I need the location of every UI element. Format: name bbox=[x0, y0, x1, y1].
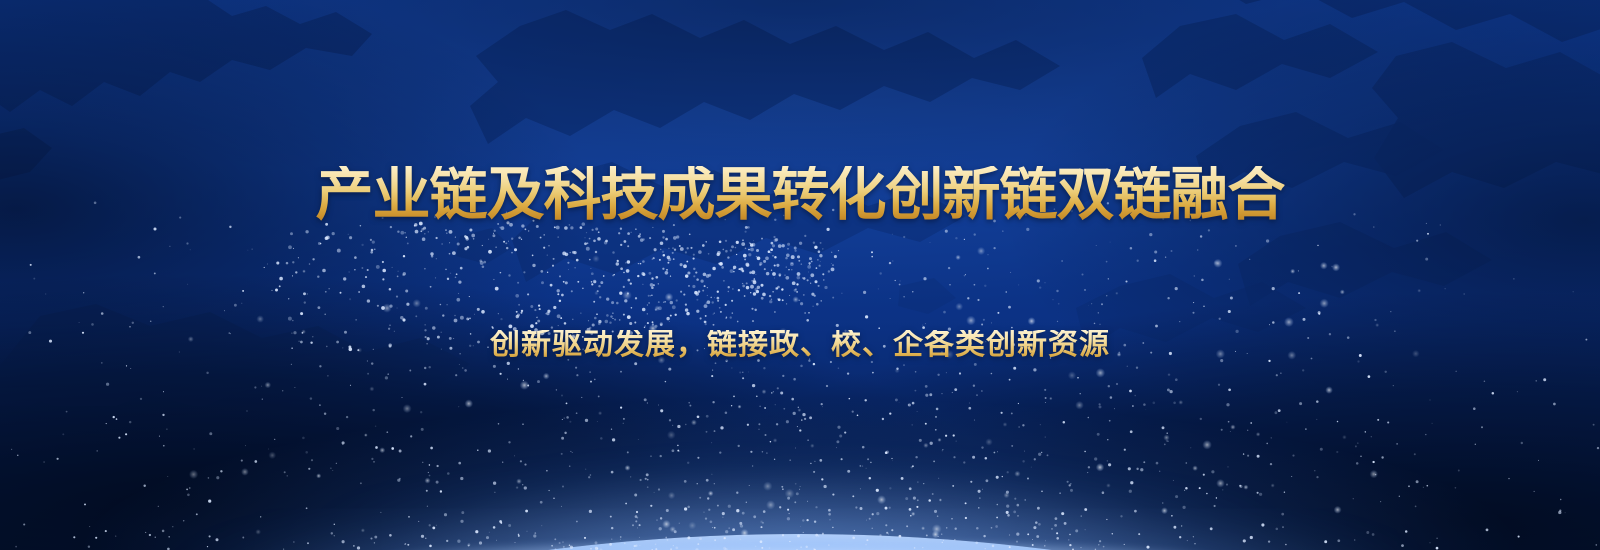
banner-content: 产业链及科技成果转化创新链双链融合 创新驱动发展，链接政、校、企各类创新资源 bbox=[0, 0, 1600, 550]
hero-banner: 产业链及科技成果转化创新链双链融合 创新驱动发展，链接政、校、企各类创新资源 bbox=[0, 0, 1600, 550]
banner-title: 产业链及科技成果转化创新链双链融合 bbox=[315, 166, 1284, 224]
banner-subtitle: 创新驱动发展，链接政、校、企各类创新资源 bbox=[490, 330, 1110, 360]
